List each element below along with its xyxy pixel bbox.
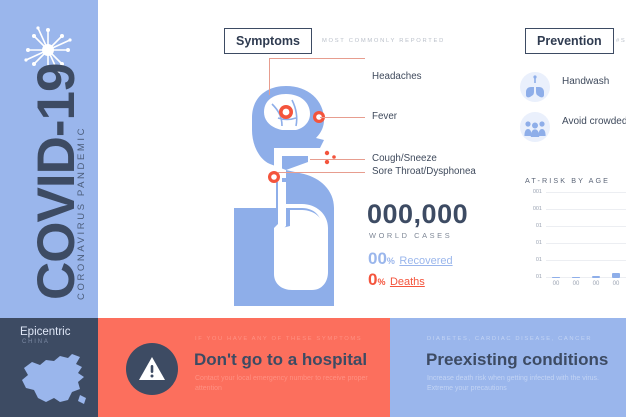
world-cases-label: WORLD CASES <box>369 231 452 240</box>
deaths-stat: 0% Deaths <box>368 270 425 290</box>
deaths-label: Deaths <box>390 276 425 288</box>
chart-ytick: 01 <box>520 274 542 280</box>
symptoms-section-subtitle: MOST COMMONLY REPORTED <box>322 38 445 44</box>
chart-ytick: 001 <box>520 206 542 212</box>
world-cases-number: 000,000 <box>367 199 468 230</box>
chart-bar <box>572 277 580 279</box>
group-of-people-icon <box>520 112 550 142</box>
brand-title-group: COVID-19 CORONAVIRUS PANDEMIC <box>0 0 98 318</box>
infographic-page: COVID-19 CORONAVIRUS PANDEMIC Epicentric… <box>0 0 626 417</box>
chart-xtick: 00 <box>607 281 625 287</box>
recovered-number: 00 <box>368 249 387 268</box>
prevention-section-chip: Prevention <box>525 28 614 54</box>
epicentric-title: Epicentric <box>20 326 71 338</box>
chart-ytick: 01 <box>520 223 542 229</box>
at-risk-by-age-chart: 001 001 01 01 01 01 0000000000000000+ <box>522 190 626 298</box>
main-content-area: Symptoms MOST COMMONLY REPORTED Head <box>98 0 626 318</box>
recovered-stat: 00% Recovered <box>368 249 453 269</box>
hospital-panel-headline: Don't go to a hospital <box>194 350 367 370</box>
page-subtitle: CORONAVIRUS PANDEMIC <box>76 126 87 300</box>
symptom-label-headaches: Headaches <box>372 71 422 82</box>
epicentric-subtitle: CHINA <box>22 339 50 345</box>
conditions-panel-caption: Increase death risk when getting infecte… <box>427 374 607 394</box>
leader-line-sorethroat <box>278 172 365 173</box>
conditions-panel-kicker: DIABETES, CARDIAC DISEASE, CANCER <box>427 336 592 342</box>
symptom-label-fever: Fever <box>372 111 397 122</box>
prevention-section-subtitle: #STAYATHOME <box>616 38 626 44</box>
recovered-label: Recovered <box>399 255 452 267</box>
hospital-panel-kicker: IF YOU HAVE ANY OF THESE SYMPTOMS <box>195 336 362 342</box>
leader-line-cough <box>310 159 365 160</box>
symptom-label-sorethroat: Sore Throat/Dysphonea <box>372 166 476 177</box>
chart-plot-area: 001 001 01 01 01 01 0000000000000000+ <box>546 192 626 278</box>
chart-xtick: 00 <box>567 281 585 287</box>
gridline <box>546 243 626 244</box>
prevention-label-handwash: Handwash <box>562 76 626 88</box>
chart-bar <box>592 276 600 278</box>
hospital-warning-panel: IF YOU HAVE ANY OF THESE SYMPTOMS Don't … <box>98 318 390 417</box>
chart-title: AT-RISK BY AGE <box>525 176 610 185</box>
epicentric-panel: Epicentric CHINA <box>0 318 98 417</box>
warning-triangle-icon <box>126 343 178 395</box>
chart-ytick: 01 <box>520 257 542 263</box>
gridline <box>546 226 626 227</box>
deaths-percent: % <box>377 277 385 287</box>
symptoms-section-chip: Symptoms <box>224 28 312 54</box>
chart-xtick: 00 <box>587 281 605 287</box>
gridline <box>546 260 626 261</box>
leader-vertical-headaches <box>269 58 270 95</box>
china-map-icon <box>10 348 92 410</box>
lungs-icon <box>520 72 550 102</box>
chart-bar <box>612 273 620 278</box>
gridline <box>546 192 626 193</box>
prevention-label-avoid-crowds: Avoid crowded places <box>562 116 626 128</box>
brand-band: COVID-19 CORONAVIRUS PANDEMIC <box>0 0 98 318</box>
hospital-panel-caption: Contact your local emergency number to r… <box>195 374 370 394</box>
recovered-percent: % <box>387 256 395 266</box>
gridline <box>546 209 626 210</box>
chart-ytick: 001 <box>520 189 542 195</box>
leader-line-fever <box>320 117 365 118</box>
preexisting-conditions-panel: DIABETES, CARDIAC DISEASE, CANCER Preexi… <box>390 318 626 417</box>
chart-bar <box>552 277 560 279</box>
symptom-label-cough: Cough/Sneeze <box>372 153 437 164</box>
human-respiratory-figure-icon <box>216 78 356 316</box>
chart-ytick: 01 <box>520 240 542 246</box>
leader-line-headaches <box>269 58 365 59</box>
chart-xtick: 00 <box>547 281 565 287</box>
conditions-panel-headline: Preexisting conditions <box>426 350 608 370</box>
